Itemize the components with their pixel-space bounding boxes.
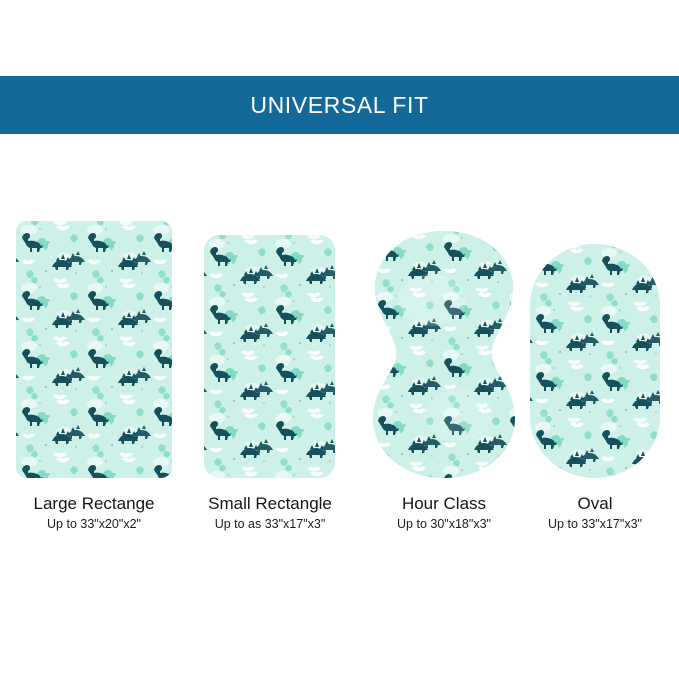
universal-fit-banner: UNIVERSAL FIT xyxy=(0,76,679,134)
label-hour-class: Hour Class Up to 30"x18"x3" xyxy=(368,493,520,533)
shape-name-large-rectangle: Large Rectange xyxy=(6,493,182,514)
mattress-large-rectangle xyxy=(16,221,172,478)
infographic-canvas: UNIVERSAL FIT xyxy=(0,0,679,679)
dino-pattern-large-rectangle xyxy=(16,221,172,478)
dino-pattern-oval xyxy=(530,244,660,478)
shape-dimensions-large-rectangle: Up to 33"x20"x2" xyxy=(6,516,182,533)
shape-dimensions-hour-class: Up to 30"x18"x3" xyxy=(368,516,520,533)
mattress-oval xyxy=(530,244,660,478)
label-small-rectangle: Small Rectangle Up to as 33"x17"x3" xyxy=(186,493,354,533)
shape-dimensions-oval: Up to 33"x17"x3" xyxy=(524,516,666,533)
label-oval: Oval Up to 33"x17"x3" xyxy=(524,493,666,533)
shape-name-small-rectangle: Small Rectangle xyxy=(186,493,354,514)
banner-title: UNIVERSAL FIT xyxy=(250,92,428,119)
shape-dimensions-small-rectangle: Up to as 33"x17"x3" xyxy=(186,516,354,533)
mattress-hour-class xyxy=(372,230,516,479)
shape-name-hour-class: Hour Class xyxy=(368,493,520,514)
shape-name-oval: Oval xyxy=(524,493,666,514)
shape-figure-hour-class xyxy=(372,230,516,479)
mattress-small-rectangle xyxy=(204,235,335,478)
dino-pattern-small-rectangle xyxy=(204,235,335,478)
label-large-rectangle: Large Rectange Up to 33"x20"x2" xyxy=(6,493,182,533)
